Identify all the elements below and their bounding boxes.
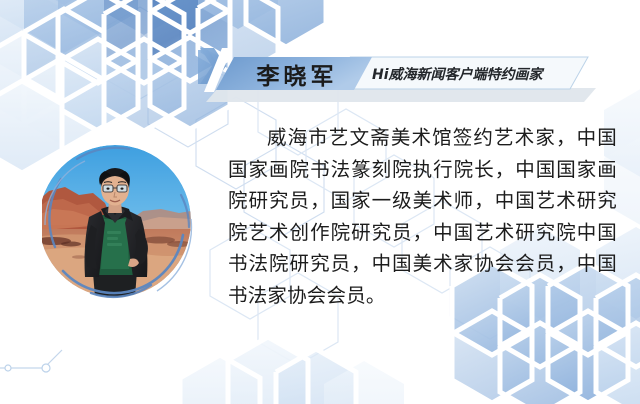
artist-subtitle: Hi威海新闻客户端特约画家 [372, 60, 543, 88]
artist-profile-card: 李晓军 Hi威海新闻客户端特约画家 威海市艺文斋美术馆签约艺术家，中国国家画院书… [0, 0, 640, 404]
artist-bio: 威海市艺文斋美术馆签约艺术家，中国国家画院书法篆刻院执行院长，中国国家画院研究员… [228, 122, 617, 311]
portrait-ring-decoration [33, 143, 197, 307]
portrait [33, 143, 197, 307]
artist-name: 李晓军 [232, 57, 362, 91]
